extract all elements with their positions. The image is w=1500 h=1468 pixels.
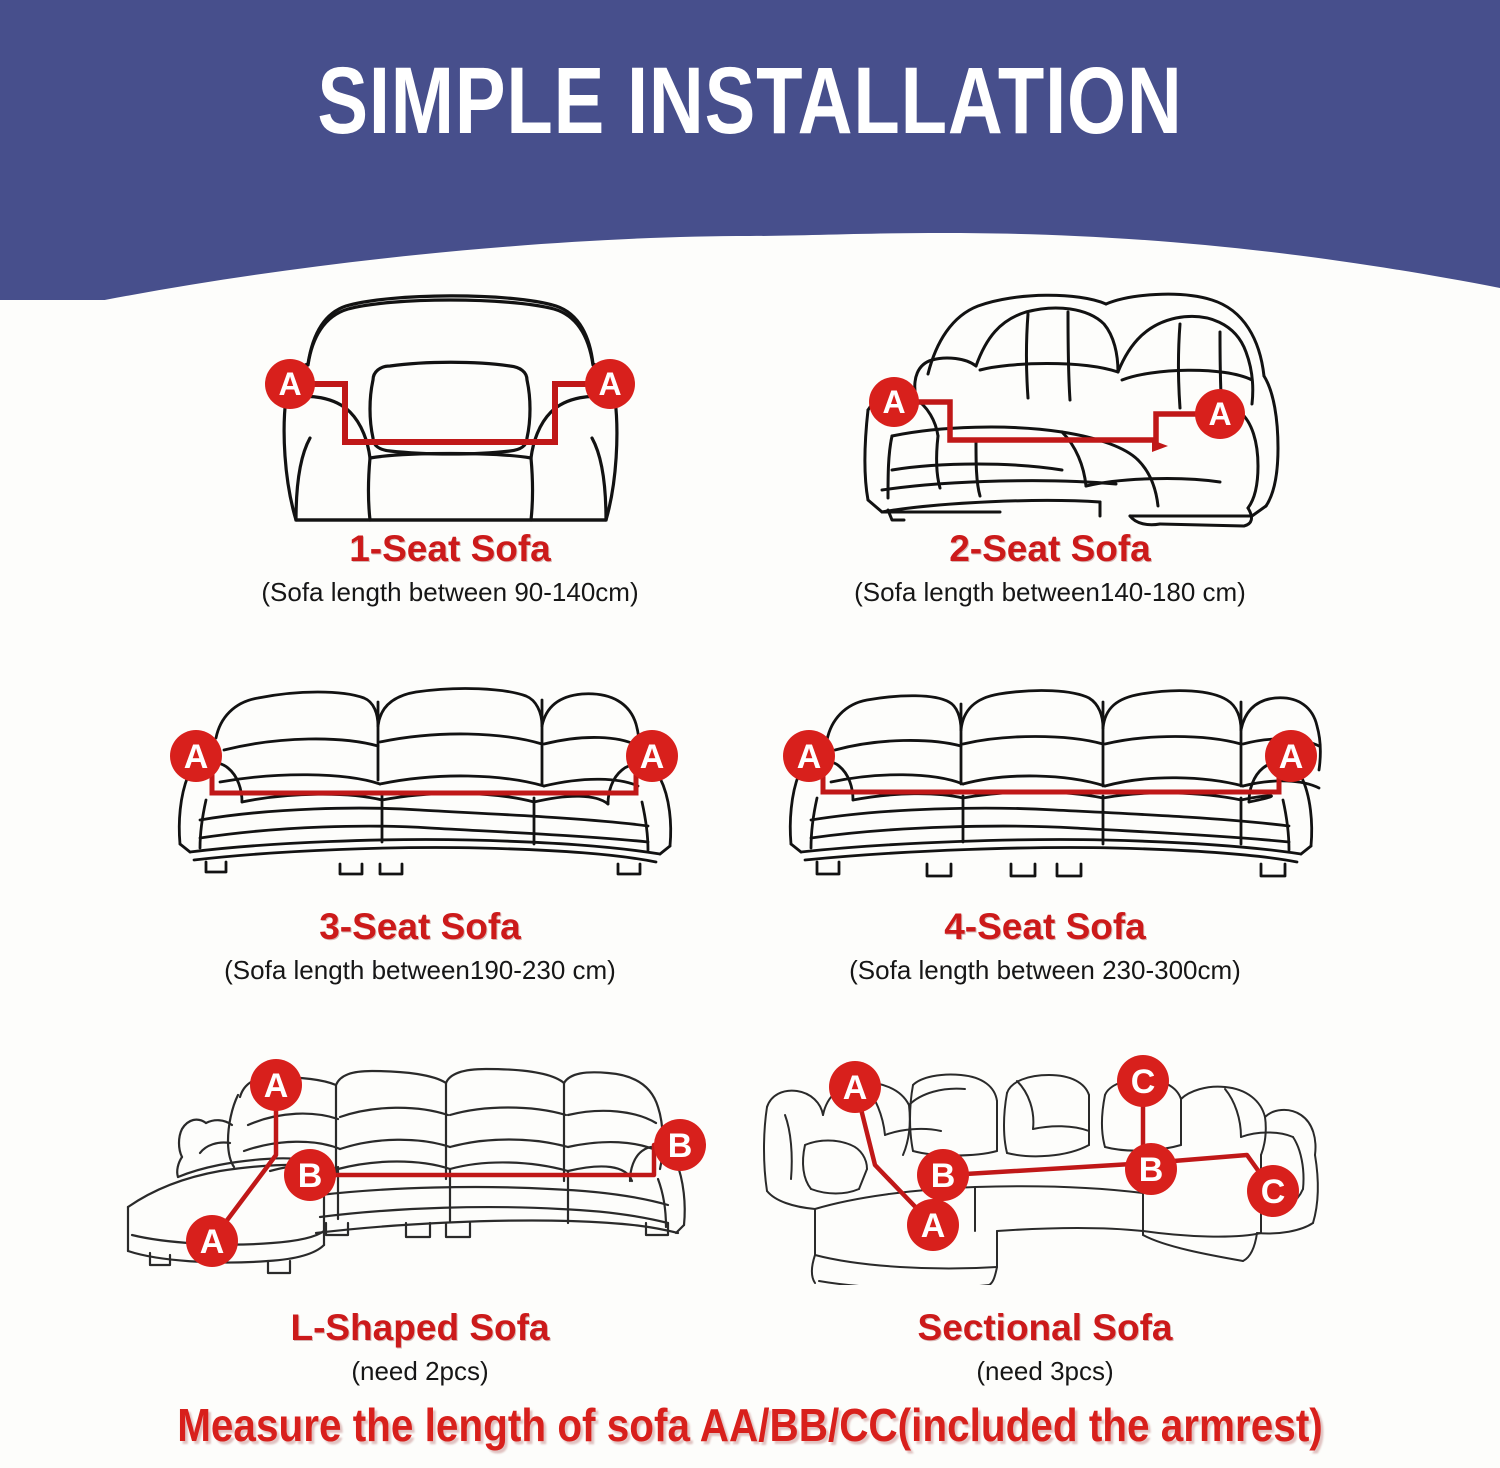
svg-text:A: A (797, 738, 822, 776)
two-seat-subtitle: (Sofa length between140-180 cm) (800, 577, 1300, 608)
marker-a-left: A (869, 377, 919, 427)
svg-text:A: A (278, 366, 301, 402)
svg-text:A: A (882, 384, 905, 420)
card-one-seat: A A 1-Seat Sofa (Sofa length between 90-… (200, 280, 700, 625)
header-banner: SIMPLE INSTALLATION (0, 0, 1500, 300)
marker-b-right: B (654, 1119, 706, 1171)
svg-text:A: A (843, 1069, 868, 1107)
svg-text:A: A (640, 738, 665, 776)
two-seat-title: 2-Seat Sofa (800, 528, 1300, 570)
four-seat-subtitle: (Sofa length between 230-300cm) (755, 955, 1335, 986)
four-seat-title: 4-Seat Sofa (755, 906, 1335, 948)
marker-a-right: A (626, 730, 678, 782)
marker-a-bottom: A (907, 1199, 959, 1251)
l-shaped-title: L-Shaped Sofa (120, 1307, 720, 1349)
marker-b-right: B (1125, 1143, 1177, 1195)
svg-text:A: A (184, 738, 209, 776)
marker-c-top: C (1117, 1055, 1169, 1107)
marker-a-right: A (1195, 389, 1245, 439)
one-seat-title: 1-Seat Sofa (200, 528, 700, 570)
card-l-shaped: A A B B L-Shaped Sofa (need 2pcs) (120, 1045, 720, 1375)
svg-text:A: A (921, 1207, 946, 1245)
three-seat-illustration: A A (130, 680, 710, 880)
sectional-caption: Sectional Sofa (need 3pcs) (745, 1307, 1345, 1387)
marker-a-top: A (250, 1059, 302, 1111)
one-seat-subtitle: (Sofa length between 90-140cm) (200, 577, 700, 608)
svg-text:A: A (200, 1223, 225, 1261)
marker-a-left: A (783, 730, 835, 782)
svg-text:B: B (931, 1157, 956, 1195)
two-seat-caption: 2-Seat Sofa (Sofa length between140-180 … (800, 528, 1300, 608)
svg-text:B: B (668, 1127, 693, 1165)
svg-text:A: A (598, 366, 621, 402)
card-sectional: A A B B C (745, 1045, 1345, 1375)
one-seat-caption: 1-Seat Sofa (Sofa length between 90-140c… (200, 528, 700, 608)
l-shaped-caption: L-Shaped Sofa (need 2pcs) (120, 1307, 720, 1387)
marker-a-bottom: A (186, 1215, 238, 1267)
card-four-seat: A A 4-Seat Sofa (Sofa length between 230… (755, 680, 1335, 1000)
marker-b-left: B (284, 1149, 336, 1201)
svg-text:A: A (264, 1067, 289, 1105)
svg-text:A: A (1279, 738, 1304, 776)
marker-a-left: A (265, 359, 315, 409)
sectional-illustration: A A B B C (745, 1045, 1345, 1285)
marker-c-right: C (1247, 1165, 1299, 1217)
marker-a-left: A (170, 730, 222, 782)
four-seat-caption: 4-Seat Sofa (Sofa length between 230-300… (755, 906, 1335, 986)
sectional-title: Sectional Sofa (745, 1307, 1345, 1349)
one-seat-illustration: A A (200, 280, 700, 528)
sectional-subtitle: (need 3pcs) (745, 1356, 1345, 1387)
l-shaped-illustration: A A B B (120, 1045, 720, 1285)
two-seat-illustration: A A (800, 280, 1300, 528)
marker-a-right: A (1265, 730, 1317, 782)
three-seat-caption: 3-Seat Sofa (Sofa length between190-230 … (130, 906, 710, 986)
marker-b-left: B (917, 1149, 969, 1201)
svg-text:A: A (1208, 396, 1231, 432)
page-title: SIMPLE INSTALLATION (150, 52, 1350, 152)
three-seat-subtitle: (Sofa length between190-230 cm) (130, 955, 710, 986)
footer-measure-note: Measure the length of sofa AA/BB/CC(incl… (90, 1398, 1410, 1452)
svg-text:C: C (1131, 1063, 1156, 1101)
svg-text:C: C (1261, 1173, 1286, 1211)
three-seat-title: 3-Seat Sofa (130, 906, 710, 948)
card-three-seat: A A 3-Seat Sofa (Sofa length between190-… (130, 680, 710, 1000)
marker-a-right: A (585, 359, 635, 409)
marker-a-top: A (829, 1061, 881, 1113)
four-seat-illustration: A A (755, 680, 1335, 880)
svg-text:B: B (1139, 1151, 1164, 1189)
card-two-seat: A A 2-Seat Sofa (Sofa length between140-… (800, 280, 1300, 625)
l-shaped-subtitle: (need 2pcs) (120, 1356, 720, 1387)
svg-text:B: B (298, 1157, 323, 1195)
